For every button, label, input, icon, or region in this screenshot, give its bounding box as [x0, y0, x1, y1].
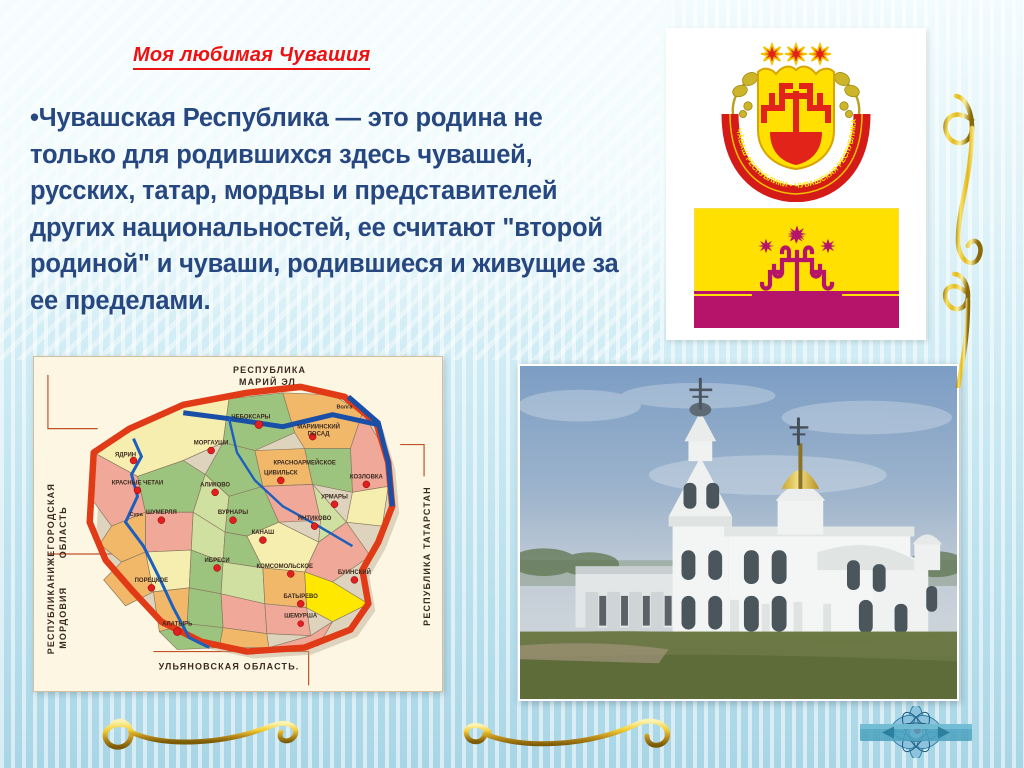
svg-text:КАНАШ: КАНАШ: [252, 530, 275, 536]
svg-text:Волга: Волга: [337, 405, 354, 411]
church-photo-panel: [518, 364, 959, 701]
svg-text:ЧЕБОКСАРЫ: ЧЕБОКСАРЫ: [231, 415, 270, 421]
svg-text:Сура: Сура: [130, 512, 144, 518]
bullet-marker: •: [30, 104, 39, 132]
flag-image: [694, 208, 899, 328]
svg-text:КОМСОМОЛЬСКОЕ: КОМСОМОЛЬСКОЕ: [257, 564, 313, 570]
page-title: Моя любимая Чувашия: [133, 44, 370, 70]
svg-text:ШЕМУРША: ШЕМУРША: [284, 614, 318, 620]
svg-text:МОРДОВИЯ: МОРДОВИЯ: [58, 587, 68, 649]
atom-logo[interactable]: [852, 706, 980, 758]
svg-text:АЛИКОВО: АЛИКОВО: [200, 482, 230, 488]
svg-text:ВУРНАРЫ: ВУРНАРЫ: [218, 510, 248, 516]
svg-text:УЛЬЯНОВСКАЯ ОБЛАСТЬ.: УЛЬЯНОВСКАЯ ОБЛАСТЬ.: [159, 661, 300, 671]
svg-text:ОБЛАСТЬ: ОБЛАСТЬ: [58, 506, 68, 558]
svg-text:ИБРЕСИ: ИБРЕСИ: [205, 558, 230, 564]
svg-text:МАРИИНСКИЙ: МАРИИНСКИЙ: [297, 423, 340, 431]
svg-text:ЯНТИКОВО: ЯНТИКОВО: [298, 516, 332, 522]
body-paragraph: •Чувашская Республика — это родина не то…: [30, 100, 630, 319]
svg-text:МАРИЙ ЭЛ: МАРИЙ ЭЛ: [239, 376, 296, 387]
svg-text:ЦИВИЛЬСК: ЦИВИЛЬСК: [264, 470, 298, 476]
svg-text:НИЖЕГОРОДСКАЯ: НИЖЕГОРОДСКАЯ: [46, 483, 56, 581]
chuvashia-map-image: ЧЕБОКСАРЫ МАРИИНСКИЙПОСАД ЯДРИН МОРГАУШИ…: [34, 357, 442, 691]
svg-text:МОРГАУШИ: МОРГАУШИ: [194, 441, 229, 447]
svg-text:ЯДРИН: ЯДРИН: [115, 453, 136, 459]
emblem-panel: ЧӐВАШ РЕСПУБЛИКИ • ЧУВАШСКАЯ РЕСПУБЛИКА: [666, 28, 926, 340]
map-panel: ЧЕБОКСАРЫ МАРИИНСКИЙПОСАД ЯДРИН МОРГАУШИ…: [33, 356, 443, 692]
svg-text:РЕСПУБЛИКА ТАТАРСТАН: РЕСПУБЛИКА ТАТАРСТАН: [422, 486, 432, 626]
svg-text:КРАСНОАРМЕЙСКОЕ: КРАСНОАРМЕЙСКОЕ: [273, 458, 335, 466]
coat-of-arms-image: ЧӐВАШ РЕСПУБЛИКИ • ЧУВАШСКАЯ РЕСПУБЛИКА: [686, 34, 906, 202]
svg-text:ПОРЕЦКОЕ: ПОРЕЦКОЕ: [135, 578, 169, 584]
svg-text:ШУМЕРЛЯ: ШУМЕРЛЯ: [146, 510, 177, 516]
svg-text:РЕСПУБЛИКА: РЕСПУБЛИКА: [46, 581, 56, 654]
svg-text:РЕСПУБЛИКА: РЕСПУБЛИКА: [233, 365, 306, 375]
church-photo-image: [520, 366, 957, 700]
svg-text:ПОСАД: ПОСАД: [308, 432, 331, 438]
gold-swirl-right: [928, 78, 1024, 388]
svg-text:КРАСНЫЕ ЧЕТАИ: КРАСНЫЕ ЧЕТАИ: [112, 480, 163, 486]
gold-swirl-bottom-left: [95, 702, 325, 762]
svg-text:БАТЫРЕВО: БАТЫРЕВО: [284, 594, 319, 600]
svg-text:УРМАРЫ: УРМАРЫ: [321, 494, 348, 500]
gold-swirl-bottom-right: [455, 702, 685, 762]
svg-text:БУИНСКИЙ: БУИНСКИЙ: [338, 568, 371, 576]
body-paragraph-text: Чувашская Республика — это родина не тол…: [30, 104, 618, 315]
svg-text:АЛАТЫРЬ: АЛАТЫРЬ: [162, 622, 193, 628]
svg-text:КОЗЛОВКА: КОЗЛОВКА: [350, 474, 384, 480]
